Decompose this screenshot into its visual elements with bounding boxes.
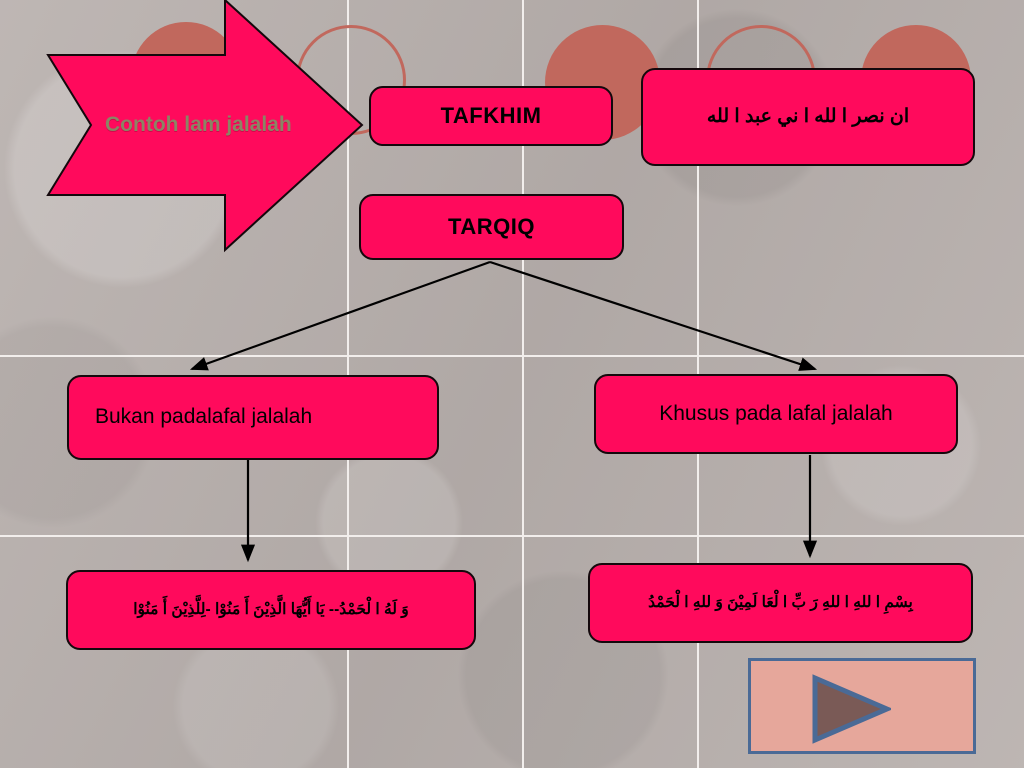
play-button[interactable] <box>748 658 976 754</box>
slide-canvas: Contoh lam jalalah TAFKHIM ان نصر ا لله … <box>0 0 1024 768</box>
connector-tarqiq-to-branch-right <box>490 262 815 369</box>
node-branch-left[interactable]: Bukan padalafal jalalah <box>67 375 439 460</box>
node-example-top-right[interactable]: ان نصر ا لله ا ني عبد ا لله <box>641 68 975 166</box>
node-example-bottom-right[interactable]: بِسْمِ ا للهِ ا للهِ رَ بِّ ا لْعَا لَمِ… <box>588 563 973 643</box>
node-branch-right-label: Khusus pada lafal jalalah <box>659 402 893 426</box>
banner-arrow-label: Contoh lam jalalah <box>105 113 292 137</box>
gridline-horizontal-1 <box>0 355 1024 357</box>
connector-tarqiq-to-branch-left <box>192 262 490 369</box>
node-tarqiq-label: TARQIQ <box>448 214 535 239</box>
node-branch-right[interactable]: Khusus pada lafal jalalah <box>594 374 958 454</box>
node-example-top-right-label: ان نصر ا لله ا ني عبد ا لله <box>707 106 909 128</box>
gridline-horizontal-2 <box>0 535 1024 537</box>
banner-arrow: Contoh lam jalalah <box>45 0 365 255</box>
node-branch-left-label: Bukan padalafal jalalah <box>95 405 312 429</box>
node-example-bottom-left-label: وَ لَهُ ا لْحَمْدُ-- يَا أَيُّهَا الَّذِ… <box>133 601 409 619</box>
node-example-bottom-left[interactable]: وَ لَهُ ا لْحَمْدُ-- يَا أَيُّهَا الَّذِ… <box>66 570 476 650</box>
node-example-bottom-right-label: بِسْمِ ا للهِ ا للهِ رَ بِّ ا لْعَا لَمِ… <box>648 594 913 612</box>
node-tafkhim[interactable]: TAFKHIM <box>369 86 613 146</box>
node-tarqiq[interactable]: TARQIQ <box>359 194 624 260</box>
play-triangle-icon <box>811 674 891 744</box>
node-tafkhim-label: TAFKHIM <box>441 103 542 128</box>
